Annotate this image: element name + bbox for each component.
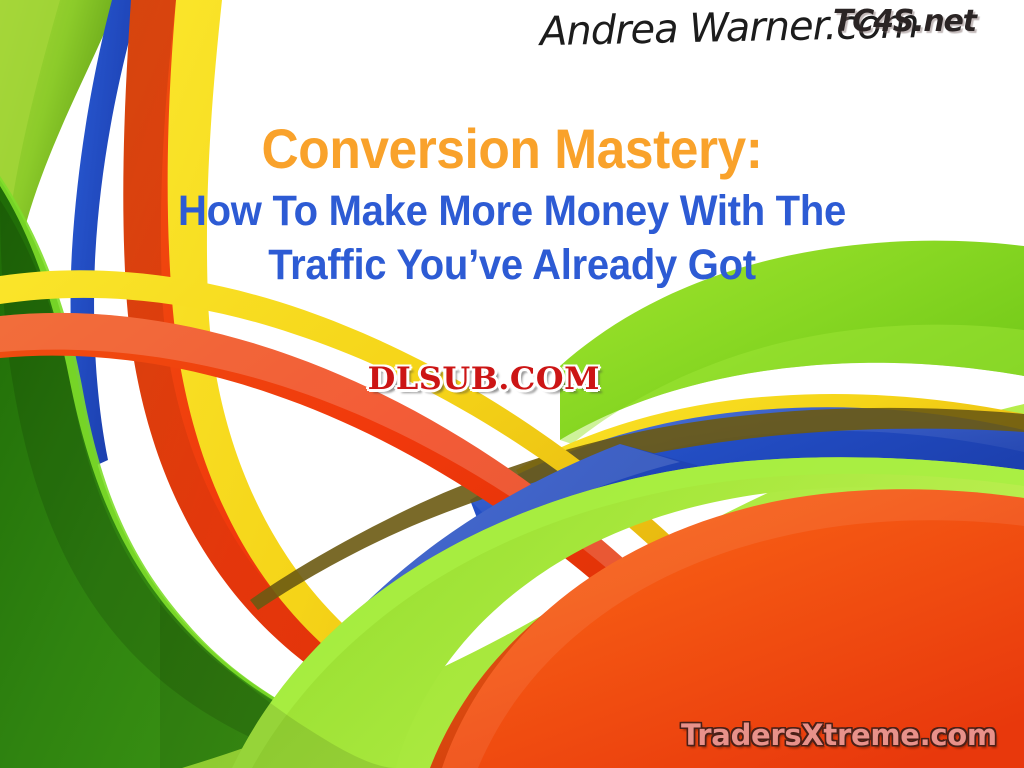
presentation-slide: Andrea Warner.com TC4S.net Conversion Ma… <box>0 0 1024 768</box>
tradersxtreme-watermark: TradersXtreme.com <box>681 718 997 752</box>
dlsub-watermark: DLSUB.COM <box>368 361 600 397</box>
page-subtitle: How To Make More Money With The Traffic … <box>36 184 988 292</box>
title-block: Conversion Mastery: How To Make More Mon… <box>0 118 1024 292</box>
subtitle-line-2: Traffic You’ve Already Got <box>36 238 988 292</box>
page-title: Conversion Mastery: <box>41 118 983 180</box>
tc4s-watermark: TC4S.net <box>833 4 976 39</box>
subtitle-line-1: How To Make More Money With The <box>36 184 988 238</box>
